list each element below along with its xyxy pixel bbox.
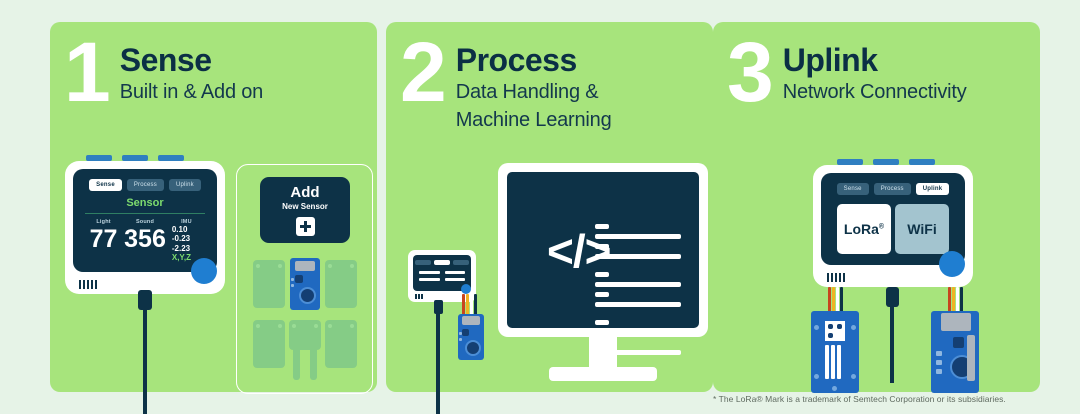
sensor-slot-empty[interactable] <box>325 320 357 368</box>
sense-tab-uplink[interactable]: Uplink <box>169 179 201 191</box>
sensor-slot-probe[interactable] <box>289 320 321 350</box>
imu-z: -2.23 <box>172 244 207 253</box>
sense-tablet[interactable]: Sense Process Uplink Sensor Light 77 Sou… <box>65 161 225 294</box>
panel-sense-header: 1 Sense Built in & Add on <box>64 36 369 108</box>
panel-sense-number: 1 <box>64 36 108 108</box>
sense-cable-plug <box>138 290 152 310</box>
panel-process-subtitle-line2: Machine Learning <box>456 108 612 132</box>
monitor-neck <box>589 337 617 367</box>
add-new-sensor-card[interactable]: Add New Sensor <box>260 177 350 243</box>
sensor-slot-empty[interactable] <box>253 320 285 368</box>
tablet-speaker-grille <box>79 280 97 289</box>
registered-mark-icon: ® <box>879 223 884 230</box>
ribbon-cable-right <box>948 287 963 313</box>
add-card-subtitle: New Sensor <box>282 202 328 211</box>
panel-uplink-title: Uplink <box>783 44 967 76</box>
mini-device-rows <box>413 265 471 281</box>
tablet-home-button[interactable] <box>939 251 965 277</box>
mini-tab-sense[interactable] <box>415 260 431 265</box>
panel-process-title: Process <box>456 44 612 76</box>
uplink-tablet-screen: Sense Process Uplink LoRa® WiFi <box>821 173 965 265</box>
reading-sound-value: 356 <box>124 227 166 252</box>
mini-tab-process[interactable] <box>434 260 450 265</box>
monitor-screen: </> <box>507 172 699 328</box>
panel-uplink-header: 3 Uplink Network Connectivity <box>727 36 1032 108</box>
footnote-trademark: * The LoRa® Mark is a trademark of Semte… <box>713 394 1073 404</box>
uplink-options[interactable]: LoRa® WiFi <box>837 204 949 254</box>
uplink-tablet[interactable]: Sense Process Uplink LoRa® WiFi <box>813 165 973 287</box>
probe-prong <box>310 348 317 380</box>
panel-sense-subtitle: Built in & Add on <box>120 80 263 104</box>
uplink-sensor-board-left[interactable] <box>811 311 859 393</box>
sense-cable <box>143 308 147 414</box>
plus-icon[interactable] <box>296 217 315 236</box>
process-cable <box>436 312 440 414</box>
uplink-tab-process[interactable]: Process <box>874 183 911 195</box>
reading-imu: IMU 0.10 -0.23 -2.23 X,Y,Z <box>166 219 207 263</box>
sense-section-heading: Sensor <box>85 197 205 214</box>
uplink-cable-plug <box>886 287 899 307</box>
code-lines-graphic <box>595 224 681 355</box>
mini-device-grille <box>415 294 423 299</box>
panel-process-subtitle-line1: Data Handling & <box>456 80 612 104</box>
uplink-tab-uplink[interactable]: Uplink <box>916 183 950 195</box>
panel-process-number: 2 <box>400 36 444 133</box>
sense-readings: Light 77 Sound 356 IMU 0.10 -0.23 -2.23 <box>83 219 207 263</box>
mini-device-tabs[interactable] <box>413 255 471 265</box>
process-monitor[interactable]: </> <box>498 163 708 337</box>
uplink-tab-sense[interactable]: Sense <box>837 183 869 195</box>
panel-uplink-number: 3 <box>727 36 771 108</box>
reading-light: Light 77 <box>83 219 124 263</box>
sense-tab-sense[interactable]: Sense <box>89 179 122 191</box>
imu-x: 0.10 <box>172 225 207 234</box>
panel-uplink-subtitle: Network Connectivity <box>783 80 967 104</box>
sense-tab-process[interactable]: Process <box>127 179 164 191</box>
panel-uplink: 3 Uplink Network Connectivity Sense Proc… <box>713 22 1040 392</box>
add-card-title: Add <box>290 185 319 200</box>
panel-process-header: 2 Process Data Handling & Machine Learni… <box>400 36 705 133</box>
panel-sense: 1 Sense Built in & Add on Sense Process … <box>50 22 377 392</box>
tablet-speaker-grille <box>827 273 845 282</box>
uplink-tab-row[interactable]: Sense Process Uplink <box>821 173 965 195</box>
uplink-cable <box>890 305 894 383</box>
imu-y: -0.23 <box>172 234 207 243</box>
uplink-option-lora[interactable]: LoRa® <box>837 204 891 254</box>
sensor-board-installed[interactable] <box>290 258 320 310</box>
infographic-stage: 1 Sense Built in & Add on Sense Process … <box>0 0 1080 414</box>
uplink-option-wifi[interactable]: WiFi <box>895 204 949 254</box>
sense-tab-row[interactable]: Sense Process Uplink <box>73 169 217 191</box>
uplink-option-lora-label: LoRa <box>844 221 879 237</box>
probe-prong <box>293 348 300 380</box>
tablet-home-button[interactable] <box>191 258 217 284</box>
sensor-slot-empty[interactable] <box>325 260 357 308</box>
mini-tab-uplink[interactable] <box>453 260 469 265</box>
reading-light-value: 77 <box>83 227 124 252</box>
mini-device-home-button[interactable] <box>461 284 471 294</box>
panel-sense-title: Sense <box>120 44 263 76</box>
uplink-option-wifi-label: WiFi <box>907 221 936 237</box>
reading-sound: Sound 356 <box>124 219 166 263</box>
ribbon-cable <box>462 294 477 316</box>
uplink-sensor-board-right[interactable] <box>931 311 979 393</box>
sense-tablet-screen: Sense Process Uplink Sensor Light 77 Sou… <box>73 169 217 272</box>
panel-process: 2 Process Data Handling & Machine Learni… <box>386 22 713 392</box>
add-sensor-tray: Add New Sensor <box>236 164 373 394</box>
reading-imu-values: 0.10 -0.23 -2.23 X,Y,Z <box>166 225 207 263</box>
ribbon-cable-left <box>828 287 843 313</box>
sensor-slot-empty[interactable] <box>253 260 285 308</box>
process-sensor-board[interactable] <box>458 314 484 360</box>
monitor-base <box>549 367 657 381</box>
